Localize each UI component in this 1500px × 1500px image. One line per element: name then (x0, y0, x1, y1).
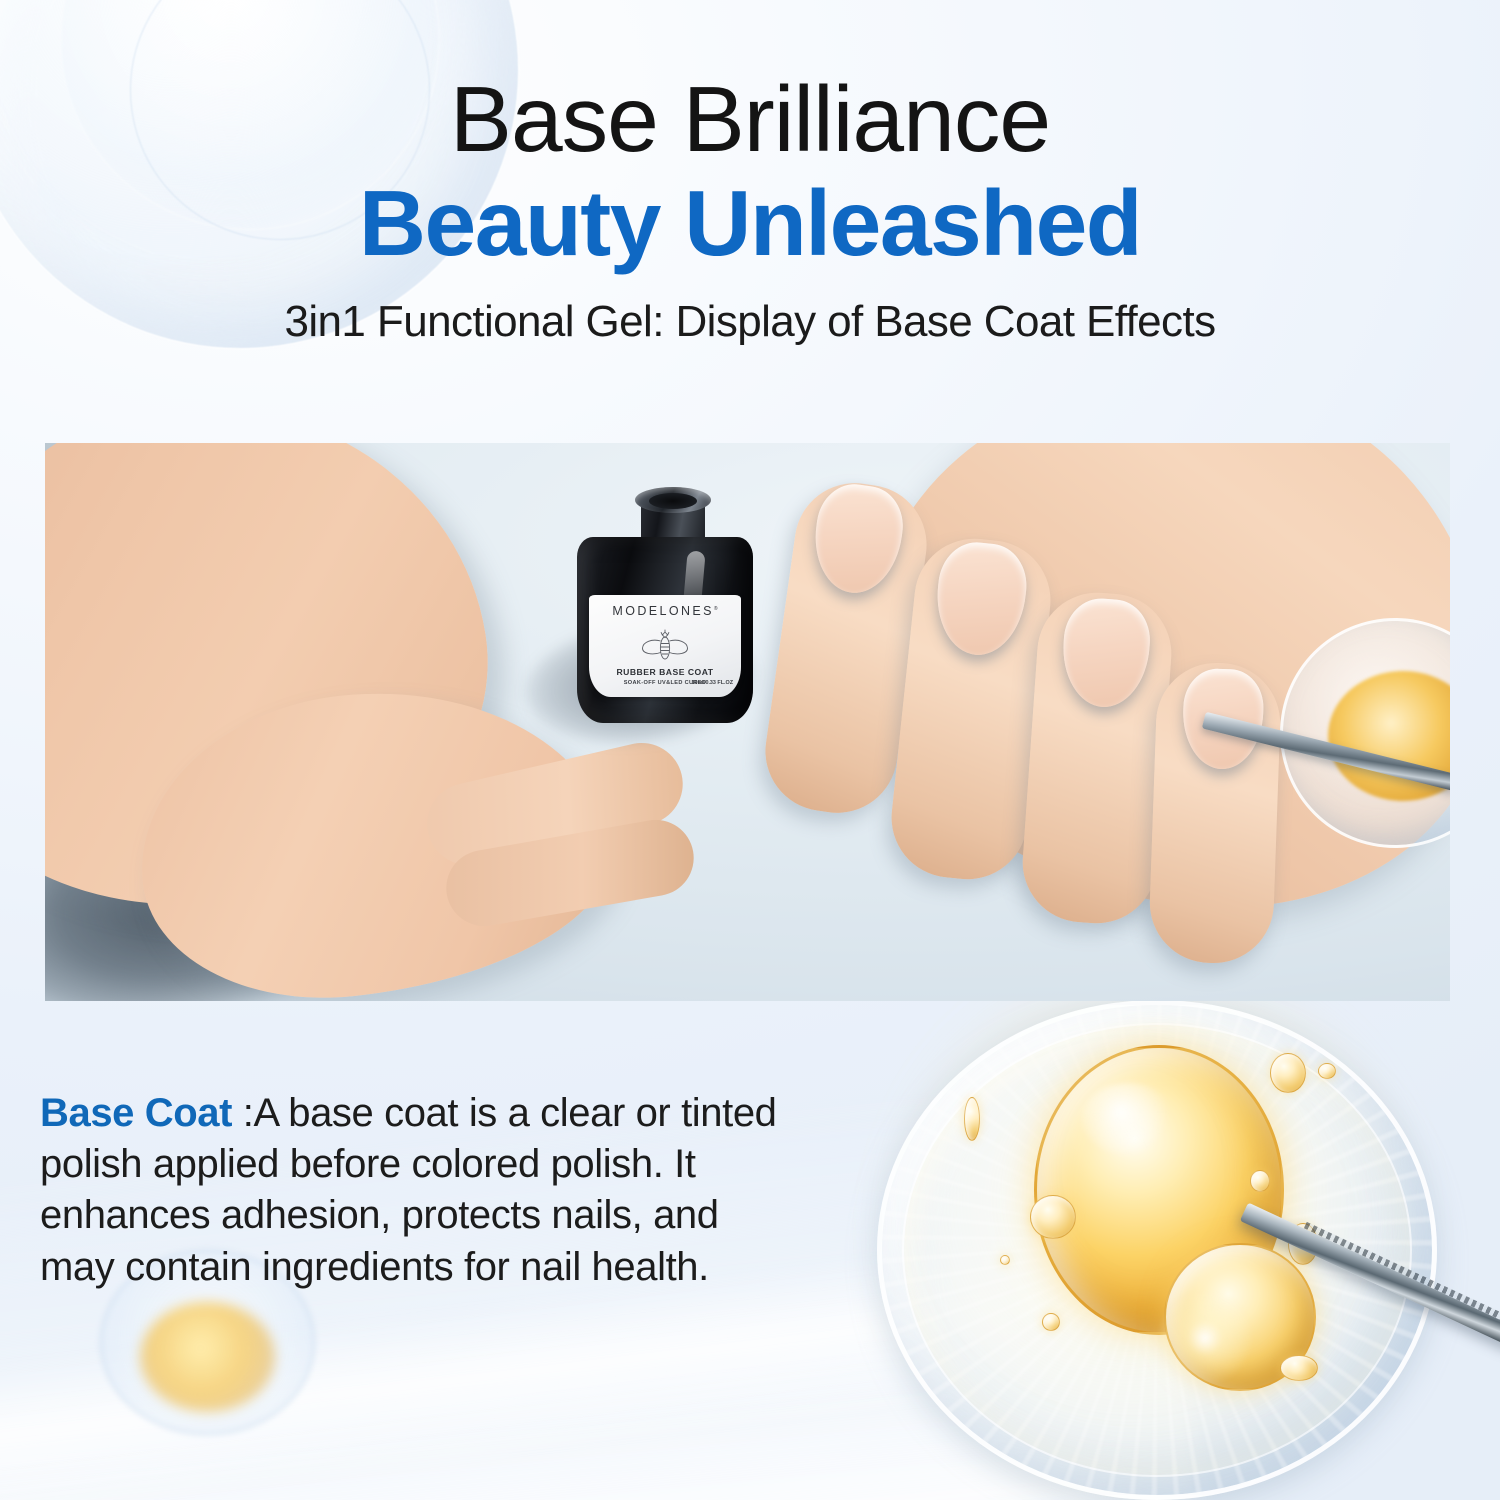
oil-bubble-1 (1030, 1195, 1076, 1239)
oil-bubble-8 (1280, 1355, 1318, 1381)
page-subtitle: 3in1 Functional Gel: Display of Base Coa… (0, 297, 1500, 347)
bottle-label: MODELONES® RUBBER BASE COAT SOA (589, 595, 741, 697)
page-title-secondary: Beauty Unleashed (0, 171, 1500, 275)
registered-mark: ® (714, 606, 718, 612)
oil-droplet-large-highlight (1082, 1083, 1174, 1155)
oil-bubble-4 (1250, 1170, 1270, 1192)
description-paragraph: Base Coat :A base coat is a clear or tin… (40, 1088, 800, 1293)
oil-bubble-2 (1270, 1053, 1306, 1093)
page-title-primary: Base Brilliance (0, 70, 1500, 169)
hero-photo: MODELONES® RUBBER BASE COAT SOA (45, 443, 1450, 1001)
bottle-brand-name: MODELONES® (589, 604, 741, 618)
oil-bubble-9 (1000, 1255, 1010, 1265)
oil-dish-illustration (835, 1000, 1495, 1500)
bottle-opening (649, 493, 697, 509)
bottle-product-type: RUBBER BASE COAT (589, 667, 741, 677)
bee-emblem-icon (638, 628, 692, 664)
background-blurred-gel (140, 1302, 275, 1412)
description-label: Base Coat (40, 1091, 232, 1135)
headline-block: Base Brilliance Beauty Unleashed 3in1 Fu… (0, 70, 1500, 347)
oil-bubble-3 (1318, 1063, 1336, 1079)
bottle-brand-text: MODELONES (612, 604, 713, 618)
product-feature-page: Base Brilliance Beauty Unleashed 3in1 Fu… (0, 0, 1500, 1500)
bottle-volume: 10ml/0.33 FL.OZ (692, 680, 733, 686)
product-bottle: MODELONES® RUBBER BASE COAT SOA (577, 493, 753, 723)
dish-sparkle (1150, 1283, 1260, 1393)
oil-bubble-6 (964, 1097, 980, 1141)
oil-bubble-7 (1042, 1313, 1060, 1331)
